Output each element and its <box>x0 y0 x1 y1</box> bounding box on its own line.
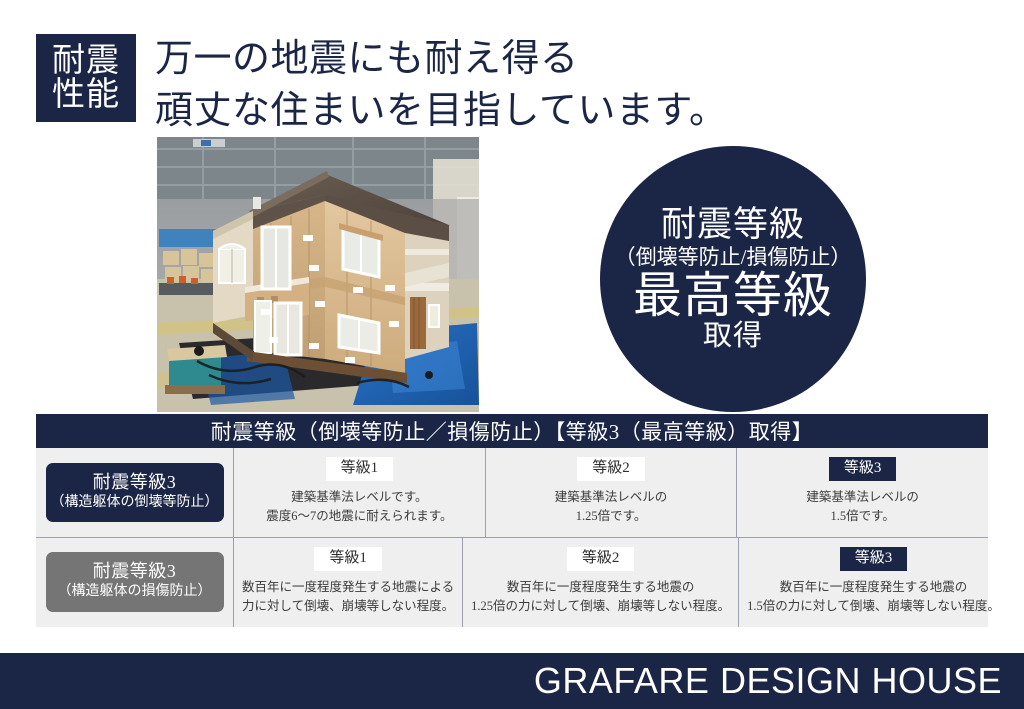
row-label-sub: （構造躯体の倒壊等防止） <box>50 495 220 512</box>
grade-badge: 等級1 <box>314 547 382 571</box>
badge-line-3: 最高等級 <box>633 271 833 320</box>
grade-cell: 等級1建築基準法レベルです。震度6〜7の地震に耐えられます。 <box>233 448 485 537</box>
row-label-sub: （構造躯体の損傷防止） <box>50 584 220 601</box>
grade-description: 数百年に一度程度発生する地震の1.25倍の力に対して倒壊、崩壊等しない程度。 <box>471 578 730 616</box>
grade-description: 数百年に一度程度発生する地震による力に対して倒壊、崩壊等しない程度。 <box>242 578 454 616</box>
table-header-bar: 耐震等級（倒壊等防止／損傷防止）【等級3（最高等級）取得】 <box>36 414 988 448</box>
grade-cell: 等級3建築基準法レベルの1.5倍です。 <box>736 448 988 537</box>
grade-cell: 等級3数百年に一度程度発生する地震の1.5倍の力に対して倒壊、崩壊等しない程度。 <box>738 538 1008 627</box>
row-label-cell: 耐震等級3（構造躯体の損傷防止） <box>36 538 233 627</box>
grade-description: 数百年に一度程度発生する地震の1.5倍の力に対して倒壊、崩壊等しない程度。 <box>747 578 1000 616</box>
house-test-photo-graphic <box>157 137 479 412</box>
grade-description-line: 1.5倍です。 <box>806 507 919 526</box>
row-label-cell: 耐震等級3（構造躯体の倒壊等防止） <box>36 448 233 537</box>
row-label-pill: 耐震等級3（構造躯体の損傷防止） <box>46 552 224 612</box>
grade-cell: 等級1数百年に一度程度発生する地震による力に対して倒壊、崩壊等しない程度。 <box>233 538 462 627</box>
grade-cell: 等級2建築基準法レベルの1.25倍です。 <box>485 448 737 537</box>
badge-line-1: 耐震等級 <box>661 207 805 242</box>
row-label-main: 耐震等級3 <box>50 472 220 493</box>
grade-cell: 等級2数百年に一度程度発生する地震の1.25倍の力に対して倒壊、崩壊等しない程度… <box>462 538 738 627</box>
grade-description-line: 建築基準法レベルです。 <box>266 488 452 507</box>
grade-badge: 等級3 <box>840 547 908 571</box>
page-header: 耐震 性能 万一の地震にも耐え得る 頑丈な住まいを目指しています。 <box>36 34 728 137</box>
grade-description-line: 建築基準法レベルの <box>806 488 919 507</box>
section-tag-line1: 耐震 <box>52 44 120 78</box>
grade-description-line: 数百年に一度程度発生する地震の <box>747 578 1000 597</box>
house-test-photo <box>157 137 479 412</box>
grade-description: 建築基準法レベルの1.25倍です。 <box>555 488 668 526</box>
grade-badge: 等級2 <box>577 457 645 481</box>
badge-line-4: 取得 <box>703 322 763 351</box>
grade-description-line: 数百年に一度程度発生する地震の <box>471 578 730 597</box>
badge-line-2: （倒壊等防止/損傷防止） <box>615 247 852 268</box>
table-body: 耐震等級3（構造躯体の倒壊等防止）等級1建築基準法レベルです。震度6〜7の地震に… <box>36 448 988 627</box>
grade-badge: 等級1 <box>326 457 394 481</box>
grade-description-line: 数百年に一度程度発生する地震による <box>242 578 454 597</box>
top-grade-badge: 耐震等級 （倒壊等防止/損傷防止） 最高等級 取得 <box>600 146 866 412</box>
row-label-pill: 耐震等級3（構造躯体の倒壊等防止） <box>46 463 224 523</box>
page-footer: GRAFARE DESIGN HOUSE <box>0 653 1024 709</box>
grade-badge: 等級3 <box>829 457 897 481</box>
section-tag-badge: 耐震 性能 <box>36 34 136 122</box>
grade-description-line: 1.25倍の力に対して倒壊、崩壊等しない程度。 <box>471 597 730 616</box>
grade-description-line: 建築基準法レベルの <box>555 488 668 507</box>
page-title: 万一の地震にも耐え得る 頑丈な住まいを目指しています。 <box>155 34 728 137</box>
grade-description-line: 1.25倍です。 <box>555 507 668 526</box>
table-row: 耐震等級3（構造躯体の倒壊等防止）等級1建築基準法レベルです。震度6〜7の地震に… <box>36 448 988 537</box>
seismic-grade-table: 耐震等級（倒壊等防止／損傷防止）【等級3（最高等級）取得】 耐震等級3（構造躯体… <box>36 414 988 627</box>
grade-description: 建築基準法レベルの1.5倍です。 <box>806 488 919 526</box>
grade-description-line: 震度6〜7の地震に耐えられます。 <box>266 507 452 526</box>
grade-description-line: 力に対して倒壊、崩壊等しない程度。 <box>242 597 454 616</box>
page-root: 耐震 性能 万一の地震にも耐え得る 頑丈な住まいを目指しています。 <box>0 0 1024 709</box>
grade-description-line: 1.5倍の力に対して倒壊、崩壊等しない程度。 <box>747 597 1000 616</box>
grade-description: 建築基準法レベルです。震度6〜7の地震に耐えられます。 <box>266 488 452 526</box>
headline-line-2: 頑丈な住まいを目指しています。 <box>155 86 728 138</box>
grade-badge: 等級2 <box>567 547 635 571</box>
table-row: 耐震等級3（構造躯体の損傷防止）等級1数百年に一度程度発生する地震による力に対し… <box>36 537 988 627</box>
headline-line-1: 万一の地震にも耐え得る <box>155 34 728 86</box>
section-tag-line2: 性能 <box>52 78 120 112</box>
brand-name: GRAFARE DESIGN HOUSE <box>534 660 1024 702</box>
row-label-main: 耐震等級3 <box>50 561 220 582</box>
